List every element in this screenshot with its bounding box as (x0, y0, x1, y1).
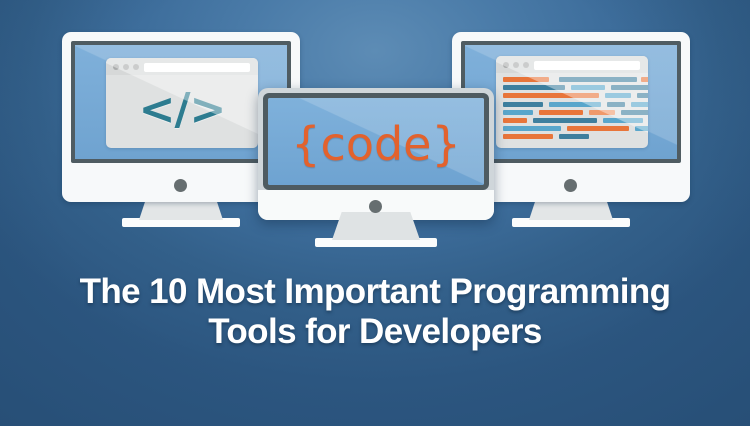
right-monitor-screen (465, 45, 677, 159)
window-dot-icon[interactable] (523, 62, 529, 68)
page-title: The 10 Most Important Programming Tools … (0, 272, 750, 352)
code-line-segment (603, 118, 643, 123)
code-line-segment (503, 85, 565, 90)
camera-dot-icon (174, 179, 187, 192)
center-code-text: {code} (268, 117, 484, 171)
left-browser-window[interactable]: </> (106, 58, 258, 148)
code-line-segment (503, 77, 549, 82)
window-dot-icon[interactable] (503, 62, 509, 68)
code-line-segment (607, 102, 625, 107)
code-line-segment (637, 93, 648, 98)
window-dot-icon[interactable] (513, 62, 519, 68)
code-line-segment (559, 77, 637, 82)
center-monitor-screen: {code} (268, 98, 484, 185)
code-line-segment (503, 93, 599, 98)
code-line-segment (503, 102, 543, 107)
camera-dot-icon (369, 200, 382, 213)
right-editor-address-bar[interactable] (534, 61, 640, 70)
page-title-line-1: The 10 Most Important Programming (0, 272, 750, 312)
right-editor-code-lines (501, 77, 643, 143)
page-title-line-2: Tools for Developers (0, 312, 750, 352)
code-line-segment (641, 77, 648, 82)
code-line-segment (539, 110, 583, 115)
code-line-segment (605, 93, 631, 98)
code-line-segment (503, 110, 533, 115)
code-line-segment (567, 126, 629, 131)
camera-dot-icon (564, 179, 577, 192)
code-line-segment (571, 85, 605, 90)
infographic-banner: </> (0, 0, 750, 426)
center-monitor-neck (332, 212, 420, 240)
code-line-segment (503, 126, 561, 131)
code-line-segment (611, 85, 648, 90)
code-line-segment (503, 134, 553, 139)
window-dot-icon[interactable] (133, 64, 139, 70)
code-line-segment (549, 102, 601, 107)
right-code-editor-window[interactable] (496, 56, 648, 148)
code-line-segment (635, 126, 648, 131)
code-angle-brackets-glyph: </> (106, 84, 258, 135)
code-line-segment (503, 118, 527, 123)
code-line-segment (621, 110, 648, 115)
code-line-segment (589, 110, 615, 115)
code-line-segment (559, 134, 589, 139)
left-monitor-screen: </> (75, 45, 287, 159)
left-browser-address-bar[interactable] (144, 63, 250, 72)
window-dot-icon[interactable] (123, 64, 129, 70)
code-line-segment (631, 102, 648, 107)
code-line-segment (533, 118, 597, 123)
center-monitor: {code} (258, 88, 494, 256)
window-dot-icon[interactable] (113, 64, 119, 70)
